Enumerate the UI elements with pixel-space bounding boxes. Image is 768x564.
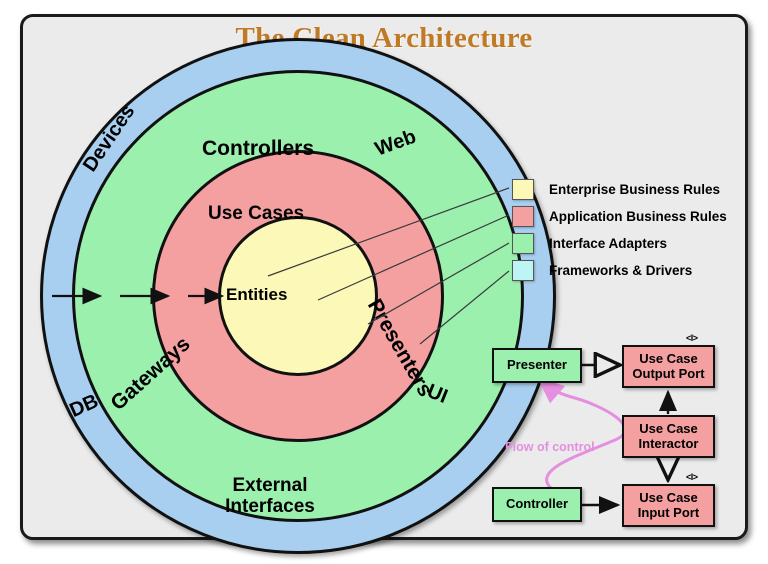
external-line-2: Interfaces bbox=[225, 496, 315, 517]
output-port-line-1: Use CaseOutput Port bbox=[632, 352, 704, 382]
legend-label-enterprise: Enterprise Business Rules bbox=[549, 182, 720, 197]
uml-box-use-case-input-port: Use CaseInput Port bbox=[622, 484, 715, 527]
interactor-line-1: Use CaseInteractor bbox=[639, 422, 699, 452]
uml-box-use-case-output-port: Use CaseOutput Port bbox=[622, 345, 715, 388]
diagram-canvas: The Clean Architecture Controllers Use C… bbox=[0, 0, 768, 564]
ring-label-entities: Entities bbox=[226, 286, 287, 304]
legend-swatch-application bbox=[512, 206, 534, 227]
legend-swatch-frameworks bbox=[512, 260, 534, 281]
uml-box-use-case-interactor: Use CaseInteractor bbox=[622, 415, 715, 458]
external-line-1: External bbox=[233, 475, 308, 496]
legend-label-adapters: Interface Adapters bbox=[549, 236, 667, 251]
interface-marker-output-port: <I> bbox=[686, 333, 698, 343]
ring-label-use-cases: Use Cases bbox=[208, 204, 304, 225]
legend-item-enterprise: Enterprise Business Rules bbox=[512, 176, 748, 203]
legend-item-application: Application Business Rules bbox=[512, 203, 748, 230]
legend: Enterprise Business Rules Application Bu… bbox=[512, 176, 748, 284]
legend-swatch-enterprise bbox=[512, 179, 534, 200]
flow-of-control-label: Flow of control bbox=[505, 440, 595, 454]
legend-item-frameworks: Frameworks & Drivers bbox=[512, 257, 748, 284]
legend-swatch-adapters bbox=[512, 233, 534, 254]
legend-label-application: Application Business Rules bbox=[549, 209, 727, 224]
page-title: The Clean Architecture bbox=[0, 22, 768, 55]
input-port-line-1: Use CaseInput Port bbox=[638, 491, 699, 521]
ring-label-controllers: Controllers bbox=[202, 138, 314, 161]
legend-item-adapters: Interface Adapters bbox=[512, 230, 748, 257]
uml-box-presenter: Presenter bbox=[492, 348, 582, 383]
uml-box-controller: Controller bbox=[492, 487, 582, 522]
ring-label-external-interfaces: External Interfaces bbox=[215, 476, 325, 517]
legend-label-frameworks: Frameworks & Drivers bbox=[549, 263, 692, 278]
interface-marker-input-port: <I> bbox=[686, 472, 698, 482]
